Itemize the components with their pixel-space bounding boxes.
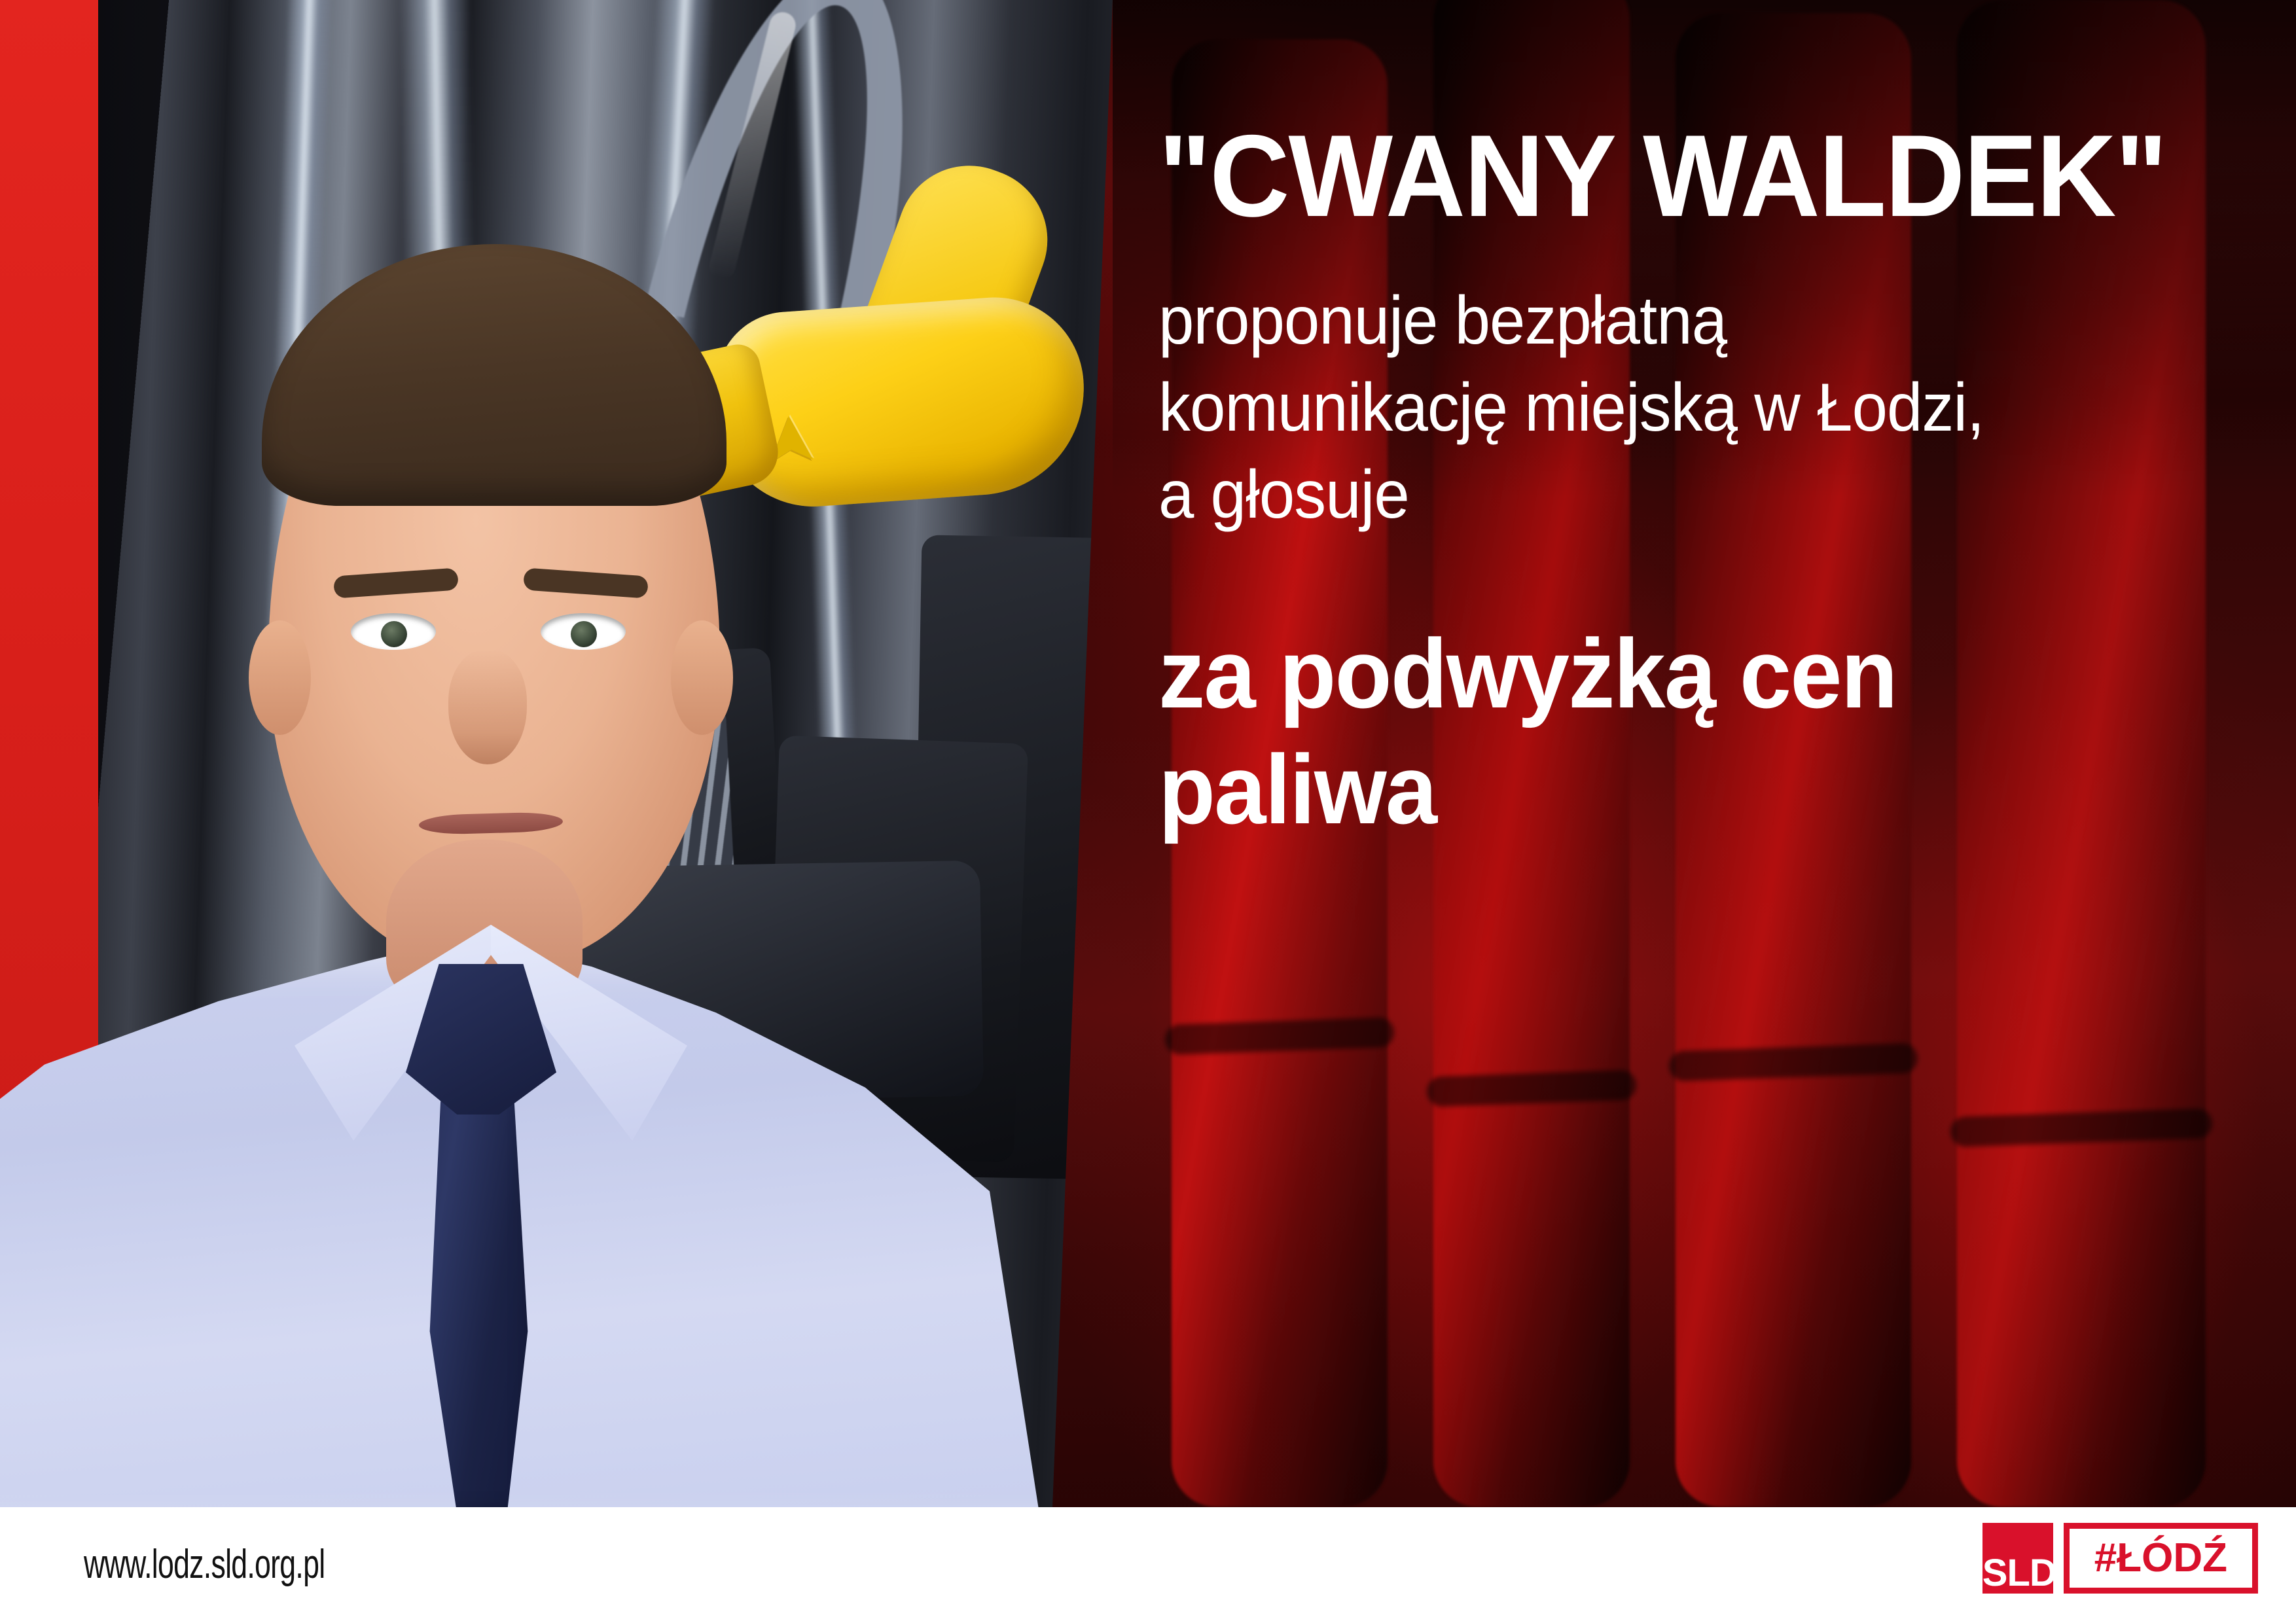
- gas-station-photo-left: ➤ Diesel: [0, 0, 1139, 1507]
- ear-right: [671, 620, 733, 735]
- lodz-hashtag-logo: #ŁÓDŹ: [2064, 1523, 2258, 1594]
- pupil-right: [571, 621, 597, 647]
- body-line-3: a głosuje: [1158, 452, 2204, 539]
- website-url[interactable]: www.lodz.sld.org.pl: [84, 1541, 325, 1588]
- sld-logo-label: SLD: [1982, 1554, 2053, 1592]
- copy-spacer: [1158, 539, 2271, 616]
- logo-lockup: SLD #ŁÓDŹ: [1982, 1523, 2258, 1594]
- candidate-portrait: [0, 41, 1100, 1507]
- ear-left: [249, 620, 311, 735]
- poster-footer: www.lodz.sld.org.pl SLD #ŁÓDŹ: [0, 1507, 2296, 1623]
- pupil-left: [381, 621, 407, 647]
- poster-headline: "CWANY WALDEK": [1158, 118, 2215, 234]
- body-line-1: proponuje bezpłatną: [1158, 277, 2204, 365]
- sld-logo: SLD: [1982, 1523, 2053, 1594]
- eye-left: [351, 613, 436, 650]
- campaign-poster: ➤ Diesel: [0, 0, 2296, 1623]
- emphasis-line-2: paliwa: [1158, 732, 2215, 847]
- body-line-2: komunikację miejską w Łodzi,: [1158, 365, 2204, 452]
- lodz-hashtag-label: #ŁÓDŹ: [2094, 1538, 2227, 1578]
- nose: [448, 650, 527, 764]
- poster-artwork: ➤ Diesel: [0, 0, 2296, 1507]
- poster-copy: "CWANY WALDEK" proponuje bezpłatną komun…: [1158, 118, 2271, 847]
- emphasis-line-1: za podwyżką cen: [1158, 616, 2215, 732]
- eye-right: [541, 613, 626, 650]
- hair: [262, 244, 726, 506]
